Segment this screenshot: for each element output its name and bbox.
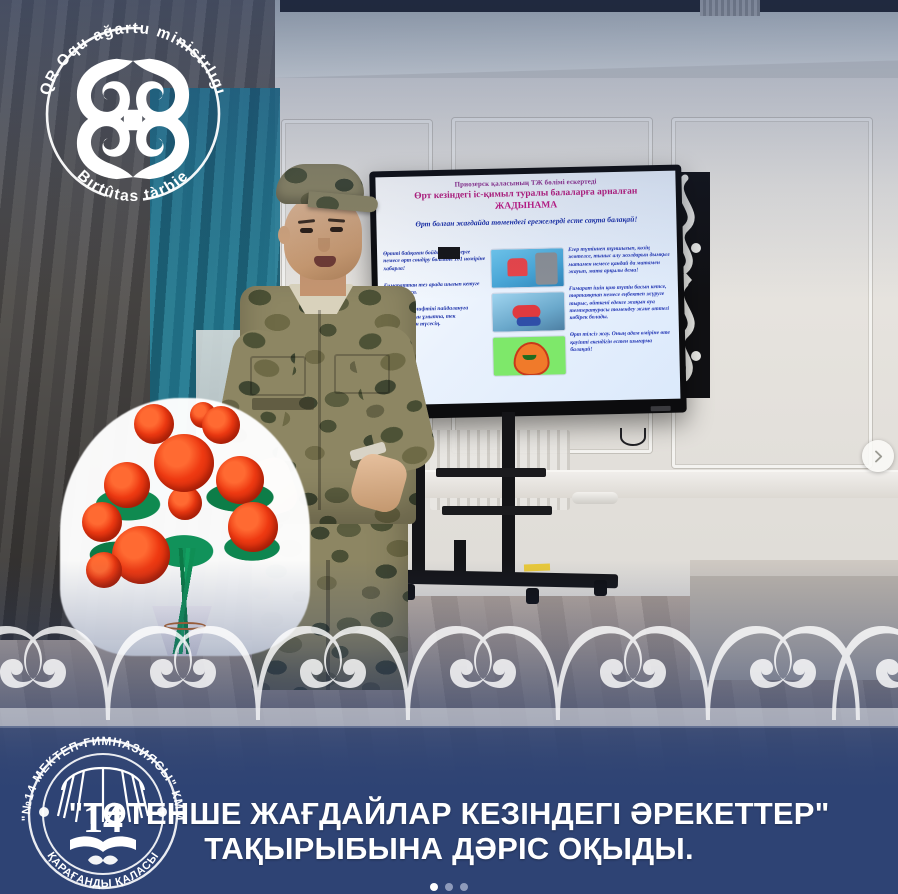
slide-text: Егер түтіннен тұншығып, көзің жөтелсе, т… [568, 245, 672, 276]
leg-seam [326, 560, 330, 690]
ear [278, 226, 290, 244]
mouth [314, 256, 336, 267]
stage-step [690, 560, 898, 680]
rose [86, 552, 122, 588]
eye [300, 228, 313, 233]
chest-pocket [334, 354, 390, 394]
school-logo: "№14 МЕКТЕП-ГИМНАЗИЯСЫ" КММ ҚАРАҒАНДЫ ҚА… [14, 726, 192, 894]
ministry-logo: QR Oqu-ağartu ministrlıgı Bırtûtas tàrbi… [28, 8, 238, 208]
hanging-cable [620, 428, 646, 446]
carousel-next-button[interactable] [862, 440, 894, 472]
trolley-shelf [436, 468, 546, 477]
jacket-placket [318, 310, 321, 510]
kazakh-ornament-emblem [77, 59, 189, 179]
trolley-caster [526, 588, 539, 604]
chevron-right-icon [872, 450, 885, 463]
ministry-logo-bottom-text: Bırtûtas tàrbie [74, 167, 192, 205]
ceiling-vent [700, 0, 760, 16]
slide-text: Өрт тілсіз жау. Оның адам өміріне өте қа… [570, 330, 673, 354]
rose [216, 456, 264, 504]
person-crawling-illustration [491, 291, 566, 333]
slide-illustrations [490, 247, 567, 399]
fire-character-illustration [492, 335, 567, 377]
carousel-dots [0, 883, 898, 891]
fire-in-room-illustration [490, 247, 565, 289]
rose [228, 502, 278, 552]
rose [154, 434, 214, 492]
carousel-dot-1[interactable] [430, 883, 438, 891]
trolley-post [502, 412, 515, 584]
carousel-dot-3[interactable] [460, 883, 468, 891]
slide-right-column: Егер түтіннен тұншығып, көзің жөтелсе, т… [568, 245, 674, 397]
trolley-caster [594, 580, 607, 596]
floor-tape [524, 564, 550, 572]
ministry-logo-top-text: QR Oqu-ağartu ministrlıgı [37, 20, 229, 98]
tv-brand-logo [651, 406, 671, 411]
eye [330, 227, 343, 232]
ceiling-strip [280, 0, 898, 12]
rose [202, 406, 240, 444]
chest-pocket [250, 356, 306, 396]
social-post-card: Приозерск қаласының ТЖ бөлімі ескертеді … [0, 0, 898, 894]
nose [318, 238, 330, 252]
trolley-shelf [442, 506, 552, 515]
roses-bouquet-decoration [60, 398, 310, 656]
carousel-dot-2[interactable] [445, 883, 453, 891]
school-number: 14 [83, 796, 123, 841]
slide-text: Ғимарат ішін қою түтін басып кетсе, төрт… [569, 284, 673, 323]
stem-tie [164, 622, 206, 630]
rose [82, 502, 122, 542]
rose [104, 462, 150, 508]
